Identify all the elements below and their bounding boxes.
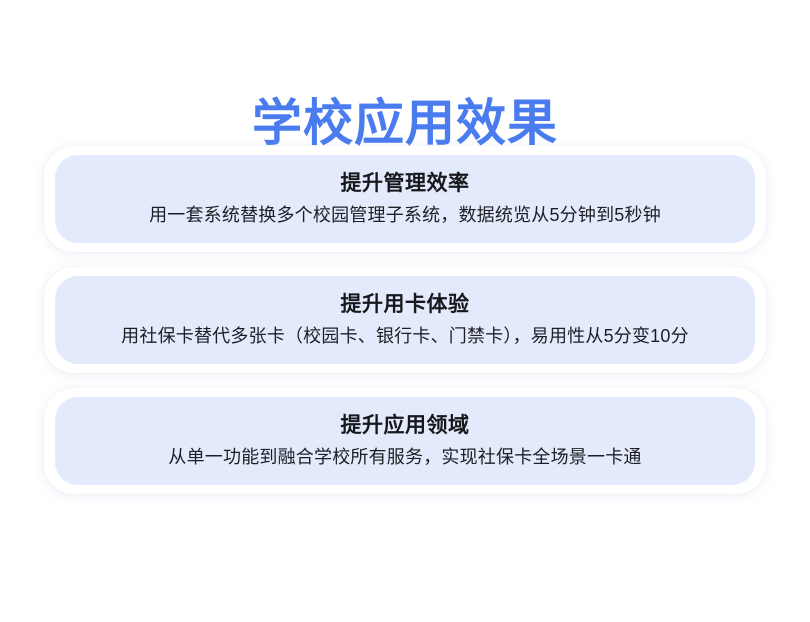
benefit-card-description: 用社保卡替代多张卡（校园卡、银行卡、门禁卡），易用性从5分变10分 [121, 323, 689, 349]
benefit-card-body: 提升管理效率 用一套系统替换多个校园管理子系统，数据统览从5分钟到5秒钟 [55, 155, 755, 243]
benefit-card-heading: 提升应用领域 [341, 412, 470, 440]
benefit-card-description: 从单一功能到融合学校所有服务，实现社保卡全场景一卡通 [168, 444, 641, 470]
benefit-card-list: 提升管理效率 用一套系统替换多个校园管理子系统，数据统览从5分钟到5秒钟 提升用… [44, 146, 766, 494]
benefit-card-heading: 提升管理效率 [341, 170, 470, 198]
benefit-card-description: 用一套系统替换多个校园管理子系统，数据统览从5分钟到5秒钟 [149, 202, 661, 228]
slide-root: 学校应用效果 提升管理效率 用一套系统替换多个校园管理子系统，数据统览从5分钟到… [0, 0, 810, 622]
benefit-card-body: 提升应用领域 从单一功能到融合学校所有服务，实现社保卡全场景一卡通 [55, 397, 755, 485]
benefit-card-heading: 提升用卡体验 [341, 291, 470, 319]
benefit-card-body: 提升用卡体验 用社保卡替代多张卡（校园卡、银行卡、门禁卡），易用性从5分变10分 [55, 276, 755, 364]
benefit-card: 提升用卡体验 用社保卡替代多张卡（校园卡、银行卡、门禁卡），易用性从5分变10分 [44, 267, 766, 373]
benefit-card: 提升应用领域 从单一功能到融合学校所有服务，实现社保卡全场景一卡通 [44, 388, 766, 494]
benefit-card: 提升管理效率 用一套系统替换多个校园管理子系统，数据统览从5分钟到5秒钟 [44, 146, 766, 252]
page-title: 学校应用效果 [0, 92, 810, 154]
